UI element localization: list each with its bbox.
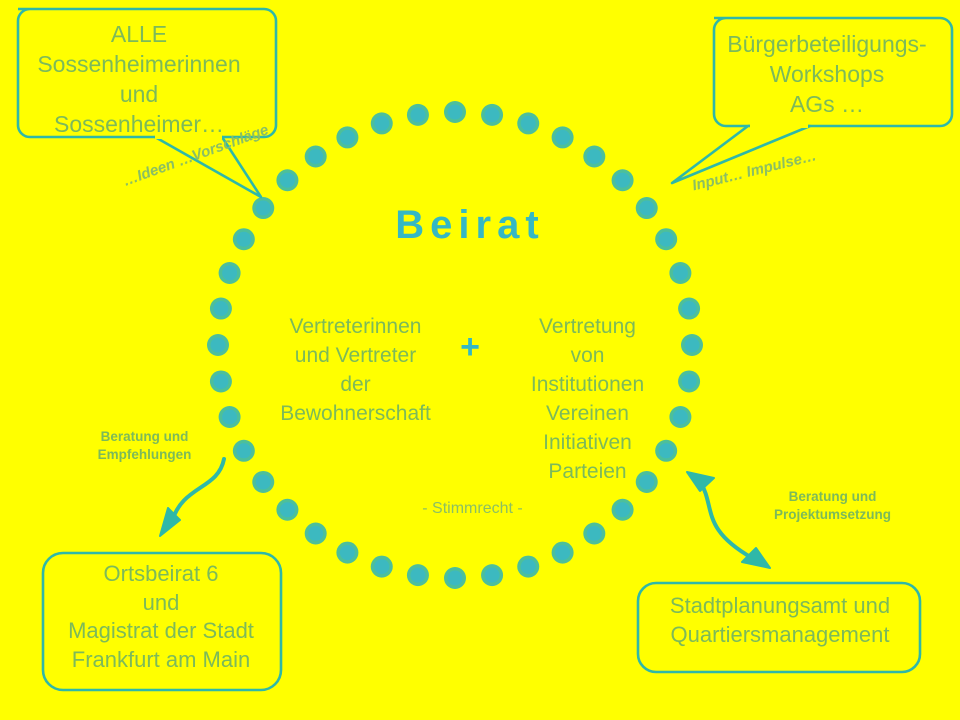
center-footnote: - Stimmrecht -: [365, 500, 580, 518]
bubble-top-left-label: ALLE Sossenheimerinnen und Sossenheimer…: [14, 20, 264, 140]
arrow-label-beratung-empfehlungen: Beratung und Empfehlungen: [62, 428, 227, 464]
annotation-input-impulse: Input… Impulse…: [690, 145, 819, 197]
plus-icon: +: [450, 330, 490, 364]
page-title: Beirat: [300, 203, 640, 248]
diagram-text-layer: ALLE Sossenheimerinnen und Sossenheimer……: [0, 0, 960, 720]
box-bottom-left-label: Ortsbeirat 6 und Magistrat der Stadt Fra…: [48, 560, 274, 674]
center-left-column: Vertreterinnen und Vertreter der Bewohne…: [268, 313, 443, 429]
box-bottom-right-label: Stadtplanungsamt und Quartiersmanagement: [640, 592, 920, 649]
diagram-canvas: ALLE Sossenheimerinnen und Sossenheimer……: [0, 0, 960, 720]
arrow-label-beratung-projektumsetzung: Beratung und Projektumsetzung: [740, 488, 925, 524]
bubble-top-right-label: Bürgerbeteiligungs- Workshops AGs …: [706, 30, 948, 120]
center-right-column: Vertretung von Institutionen Vereinen In…: [500, 313, 675, 487]
